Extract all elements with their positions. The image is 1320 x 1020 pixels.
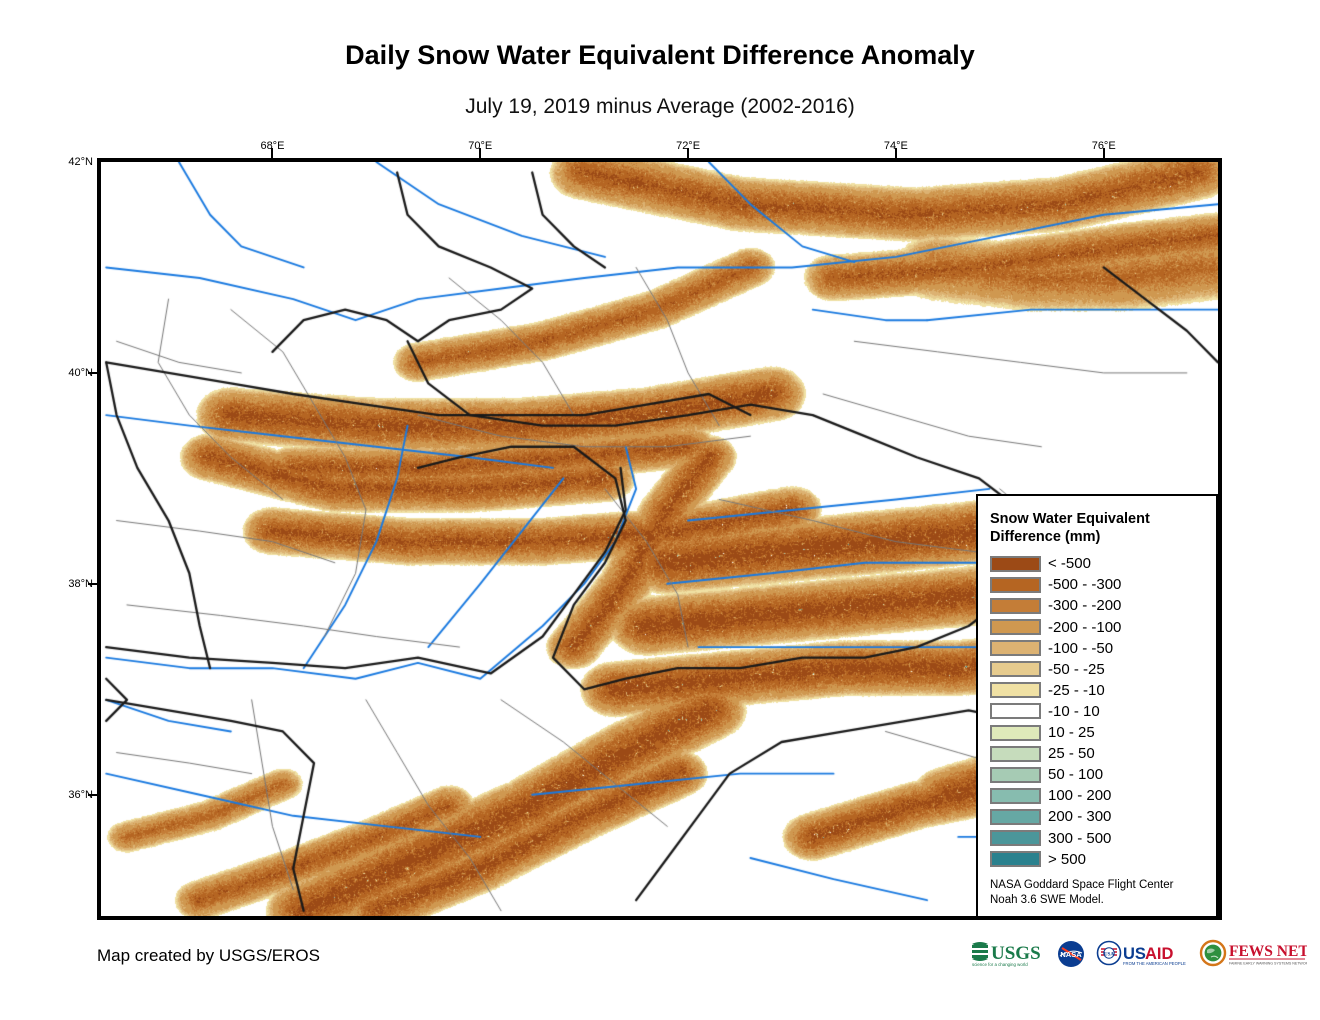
legend-row: 10 - 25 — [990, 722, 1204, 743]
legend-label: -500 - -300 — [1048, 577, 1121, 592]
legend-label: > 500 — [1048, 852, 1086, 867]
legend-row: 300 - 500 — [990, 827, 1204, 848]
legend-row: < -500 — [990, 553, 1204, 574]
nasa-logo: NASA — [1055, 938, 1087, 970]
legend-row: -25 - -10 — [990, 680, 1204, 701]
legend-note-line2: Noah 3.6 SWE Model. — [990, 893, 1204, 909]
fewsnet-logo: FEWS NET FAMINE EARLY WARNING SYSTEMS NE… — [1199, 938, 1307, 970]
legend-row: 200 - 300 — [990, 806, 1204, 827]
legend-swatch — [990, 598, 1041, 614]
legend-row: 100 - 200 — [990, 785, 1204, 806]
legend-swatch — [990, 703, 1041, 719]
page-subtitle: July 19, 2019 minus Average (2002-2016) — [0, 95, 1320, 119]
legend-row: -300 - -200 — [990, 595, 1204, 616]
legend-swatch — [990, 619, 1041, 635]
legend-row: -200 - -100 — [990, 617, 1204, 638]
legend-row: -10 - 10 — [990, 701, 1204, 722]
svg-text:NASA: NASA — [1060, 950, 1082, 959]
legend-label: -10 - 10 — [1048, 704, 1100, 719]
legend-label: 300 - 500 — [1048, 831, 1111, 846]
lat-tick-label: 42°N — [55, 156, 93, 168]
legend-row: 25 - 50 — [990, 743, 1204, 764]
legend-label: 200 - 300 — [1048, 809, 1111, 824]
legend-swatch — [990, 577, 1041, 593]
map-page: Daily Snow Water Equivalent Difference A… — [0, 0, 1320, 1020]
legend-label: -100 - -50 — [1048, 641, 1113, 656]
legend-note-line1: NASA Goddard Space Flight Center — [990, 878, 1204, 894]
agency-logos: USGS science for a changing world NASA U… — [970, 936, 1307, 972]
usgs-logo: USGS science for a changing world — [970, 938, 1046, 970]
page-title: Daily Snow Water Equivalent Difference A… — [0, 40, 1320, 71]
svg-text:FEWS NET: FEWS NET — [1229, 943, 1307, 960]
legend-swatch — [990, 640, 1041, 656]
legend-row: -50 - -25 — [990, 659, 1204, 680]
svg-text:USA: USA — [1104, 953, 1114, 958]
legend-swatch — [990, 725, 1041, 741]
legend-class-list: < -500-500 - -300-300 - -200-200 - -100-… — [990, 553, 1204, 869]
svg-text:science for a changing world: science for a changing world — [972, 962, 1028, 967]
legend-swatch — [990, 788, 1041, 804]
legend-title-line1: Snow Water Equivalent — [990, 510, 1204, 528]
legend-swatch — [990, 746, 1041, 762]
legend-row: 50 - 100 — [990, 764, 1204, 785]
legend-label: 25 - 50 — [1048, 746, 1095, 761]
svg-text:USGS: USGS — [991, 943, 1041, 964]
svg-text:FAMINE EARLY WARNING SYSTEMS N: FAMINE EARLY WARNING SYSTEMS NETWORK — [1229, 962, 1307, 966]
legend-swatch — [990, 830, 1041, 846]
legend-label: -300 - -200 — [1048, 598, 1121, 613]
legend-label: < -500 — [1048, 556, 1091, 571]
legend-label: 100 - 200 — [1048, 788, 1111, 803]
legend-row: > 500 — [990, 849, 1204, 870]
legend-note: NASA Goddard Space Flight Center Noah 3.… — [990, 878, 1204, 909]
legend-swatch — [990, 809, 1041, 825]
map-credit: Map created by USGS/EROS — [97, 946, 320, 966]
legend-panel: Snow Water Equivalent Difference (mm) < … — [976, 494, 1218, 918]
legend-row: -100 - -50 — [990, 638, 1204, 659]
legend-title: Snow Water Equivalent Difference (mm) — [990, 510, 1204, 546]
legend-swatch — [990, 682, 1041, 698]
legend-label: -50 - -25 — [1048, 662, 1105, 677]
legend-swatch — [990, 661, 1041, 677]
legend-label: -200 - -100 — [1048, 620, 1121, 635]
usaid-logo: USA US AID FROM THE AMERICAN PEOPLE — [1096, 938, 1190, 970]
legend-label: 50 - 100 — [1048, 767, 1103, 782]
legend-row: -500 - -300 — [990, 574, 1204, 595]
legend-label: -25 - -10 — [1048, 683, 1105, 698]
legend-swatch — [990, 851, 1041, 867]
legend-swatch — [990, 556, 1041, 572]
legend-swatch — [990, 767, 1041, 783]
legend-label: 10 - 25 — [1048, 725, 1095, 740]
legend-title-line2: Difference (mm) — [990, 528, 1204, 546]
svg-text:FROM THE AMERICAN PEOPLE: FROM THE AMERICAN PEOPLE — [1123, 961, 1186, 966]
